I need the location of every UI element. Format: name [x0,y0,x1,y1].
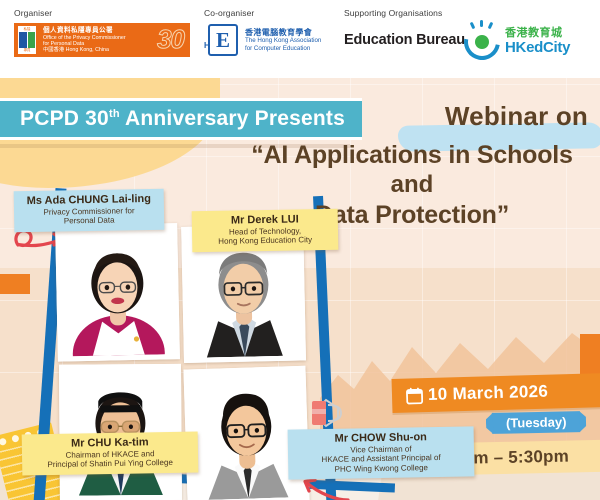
pcpd-logo: 私隱 專員 個人資料私隱專員公署 Office of the Privacy C… [14,23,190,57]
organiser-group: Organiser 私隱 專員 個人資料私隱專員公署 Office of the… [14,8,190,57]
hkedcity-en-name: HKedCity [505,40,570,56]
pcpd-cn-name: 個人資料私隱專員公署 [43,27,126,35]
supporting-label: Supporting Organisations [344,8,465,18]
orange-tab-upper-left [0,274,30,294]
event-weekday-badge: (Tuesday) [492,411,581,434]
banner-prefix: PCPD 30 [20,107,109,130]
speaker-name: Ms Ada CHUNG Lai-ling [22,193,156,208]
hkace-logo: HK E 香港電腦教育學會 The Hong Kong Association … [204,24,321,56]
hkedcity-logo: 香港教育城 HKedCity [462,22,570,62]
co-organiser-group: Co-organiser HK E 香港電腦教育學會 The Hong Kong… [204,8,321,56]
title-line-1: “AI Applications in Schools [232,140,592,170]
banner-superscript: th [109,108,120,120]
pcpd-emblem-icon: 私隱 專員 [18,26,36,54]
education-bureau-logo: Education Bureau [344,32,465,48]
pcpd-en-line3: 中國香港 Hong Kong, China [43,47,126,53]
pcpd-text: 個人資料私隱專員公署 Office of the Privacy Commiss… [43,27,126,54]
co-organiser-label: Co-organiser [204,8,321,18]
binder-clip-icon [310,396,350,430]
pcpd-30-anniversary-mark: 30 [157,24,184,55]
name-plate-ada-chung: Ms Ada CHUNG Lai-ling Privacy Commission… [14,189,165,232]
organiser-label: Organiser [14,8,190,18]
title-webinar-on: Webinar on [232,102,592,132]
logo-bar: Organiser 私隱 專員 個人資料私隱專員公署 Office of the… [0,0,600,78]
name-plate-chow-shu-on: Mr CHOW Shu-on Vice Chairman of HKACE an… [288,426,475,480]
webinar-poster: Organiser 私隱 專員 個人資料私隱專員公署 Office of the… [0,0,600,500]
hkedcity-emblem-icon [462,22,502,62]
calendar-icon [406,387,423,404]
supporting-group: Supporting Organisations Education Burea… [344,8,465,48]
title-and: and [232,170,592,200]
hkace-cn-name: 香港電腦教育學會 [245,28,321,38]
pcpd-en-line1: Office of the Privacy Commissioner [43,35,126,41]
hkace-en-line1: The Hong Kong Association [245,37,321,44]
hkace-en-line2: for Computer Education [245,45,321,52]
event-date: 10 March 2026 [428,382,549,405]
speaker-role-line: Personal Data [22,215,156,227]
hkace-e-icon: E [208,24,238,56]
poster-artboard: PCPD 30th Anniversary Presents Webinar o… [0,78,600,500]
speaker-photo-ada-chung [55,223,180,362]
hkace-text: 香港電腦教育學會 The Hong Kong Association for C… [245,28,321,52]
speaker-role-line: Hong Kong Education City [200,235,330,247]
speaker-role-line: Principal of Shatin Pui Ying College [30,458,190,470]
hkedcity-text: 香港教育城 HKedCity [505,28,570,55]
pcpd-mark-bottom: 專員 [19,48,35,53]
hkace-letter: E [216,30,230,51]
orange-tab-right [580,334,600,376]
name-plate-derek-lui: Mr Derek LUI Head of Technology, Hong Ko… [192,209,339,252]
name-plate-chu-ka-tim: Mr CHU Ka-tim Chairman of HKACE and Prin… [22,431,199,475]
date-ribbon: 10 March 2026 [392,373,600,413]
